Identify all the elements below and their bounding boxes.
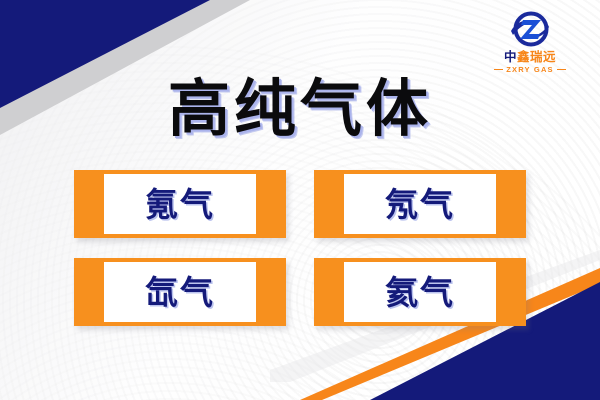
brand-name-cn-rest: 鑫瑞远 [517,50,556,64]
product-card-panel: 氦气 [344,262,496,322]
product-card-panel: 氖气 [344,174,496,234]
product-card[interactable]: 氪气 [74,170,286,238]
product-label: 氖气 [385,188,455,221]
product-card-panel: 氪气 [104,174,256,234]
product-card[interactable]: 氦气 [314,258,526,326]
page-title: 高纯气体 [0,78,600,140]
brand-name-en-text: ZXRY GAS [506,66,554,74]
poster-canvas: 中鑫瑞远 ZXRY GAS 高纯气体 氪气 氖气 氙气 氦 [0,0,600,400]
brand-name-cn-first: 中 [504,50,517,64]
product-card[interactable]: 氙气 [74,258,286,326]
brand-name-cn: 中鑫瑞远 [504,51,556,64]
product-label: 氪气 [145,188,215,221]
product-label: 氙气 [145,276,215,309]
product-card[interactable]: 氖气 [314,170,526,238]
logo-dash-right-icon [557,69,566,70]
product-label: 氦气 [385,276,455,309]
logo-dash-left-icon [494,69,503,70]
z-globe-logo-icon [507,8,553,50]
brand-logo: 中鑫瑞远 ZXRY GAS [478,8,582,80]
product-card-panel: 氙气 [104,262,256,322]
brand-name-en: ZXRY GAS [494,66,566,74]
product-grid: 氪气 氖气 氙气 氦气 [74,170,526,326]
